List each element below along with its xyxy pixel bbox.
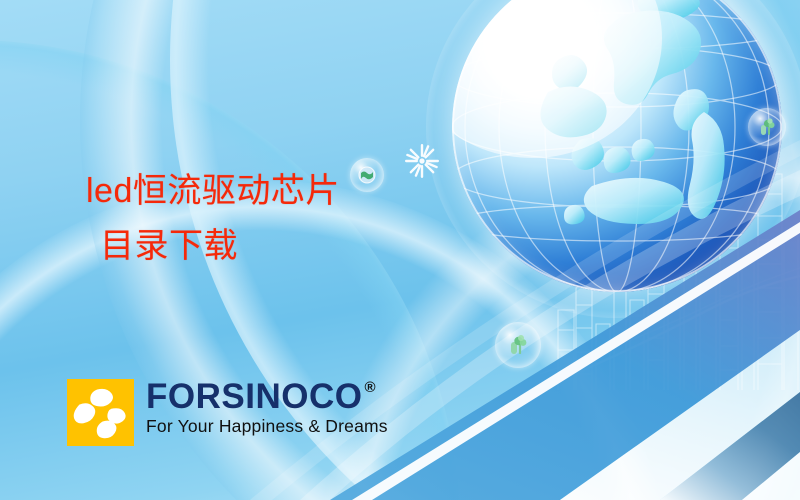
logo-text-block: FORSINOCO ® For Your Happiness & Dreams (146, 379, 388, 437)
promo-banner: led恒流驱动芯片 目录下载 FORSINOCO ® For Your Happ… (0, 0, 800, 500)
logo-wordmark: FORSINOCO ® (146, 379, 388, 415)
city-skyline-icon (540, 160, 800, 390)
headline-line-1: led恒流驱动芯片 (86, 172, 340, 210)
registered-trademark-icon: ® (364, 380, 376, 395)
bubble-with-tree-icon (748, 108, 786, 146)
globe-sphere (452, 0, 782, 292)
globe-halo (426, 0, 800, 318)
logo-tagline: For Your Happiness & Dreams (146, 416, 388, 437)
bubble-with-tree-icon (495, 322, 541, 368)
company-logo: FORSINOCO ® For Your Happiness & Dreams (67, 379, 388, 446)
globe-highlight (472, 0, 670, 117)
globe-rim (452, 0, 782, 292)
headline-line-2: 目录下载 (86, 219, 340, 274)
four-petal-flower-icon (67, 379, 134, 446)
headline: led恒流驱动芯片 目录下载 (86, 164, 340, 274)
sparkle-flower-icon (404, 143, 440, 179)
bubble-with-globe-icon (350, 158, 384, 192)
globe-icon (452, 0, 782, 292)
logo-wordmark-text: FORSINOCO (146, 379, 362, 415)
